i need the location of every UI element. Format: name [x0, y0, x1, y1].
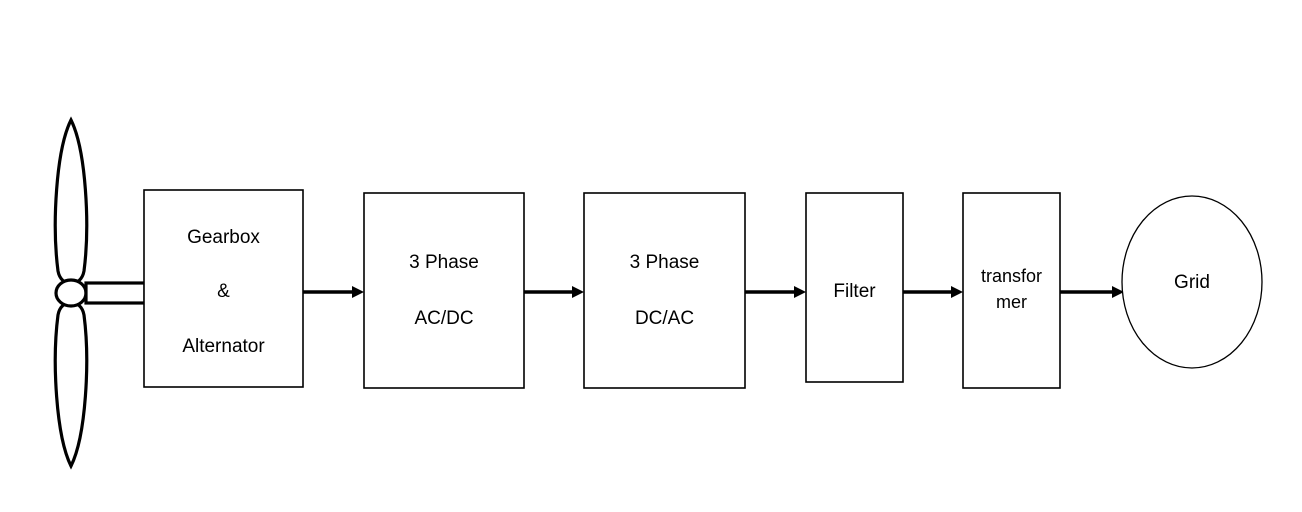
block-diagram: Gearbox & Alternator 3 Phase AC/DC 3 Pha… [0, 0, 1302, 512]
gearbox-alternator-label-line2: & [217, 281, 230, 302]
arrow-head-icon [951, 286, 963, 298]
node-ac-dc-converter[interactable]: 3 Phase AC/DC [364, 193, 524, 388]
dc-ac-inverter-box[interactable] [584, 193, 745, 388]
dc-ac-inverter-label-line1: 3 Phase [630, 252, 700, 273]
arrow-head-icon [794, 286, 806, 298]
turbine-hub-icon [56, 280, 86, 306]
ac-dc-converter-box[interactable] [364, 193, 524, 388]
turbine-shaft [86, 283, 145, 303]
ac-dc-converter-label-line2: AC/DC [414, 308, 473, 329]
connector-dcac-to-filter [745, 286, 806, 298]
node-filter[interactable]: Filter [806, 193, 903, 382]
node-grid[interactable]: Grid [1122, 196, 1262, 368]
arrow-head-icon [572, 286, 584, 298]
wind-turbine[interactable] [55, 120, 145, 466]
filter-label: Filter [833, 281, 876, 302]
node-gearbox-alternator[interactable]: Gearbox & Alternator [144, 190, 303, 387]
dc-ac-inverter-label-line2: DC/AC [635, 308, 694, 329]
connector-transformer-to-grid [1060, 286, 1124, 298]
connector-gearbox-to-acdc [303, 286, 364, 298]
diagram-canvas-root: Gearbox & Alternator 3 Phase AC/DC 3 Pha… [0, 0, 1302, 512]
ac-dc-converter-label-line1: 3 Phase [409, 252, 479, 273]
gearbox-alternator-label-line3: Alternator [182, 336, 265, 357]
node-transformer[interactable]: transfor mer [963, 193, 1060, 388]
transformer-box[interactable] [963, 193, 1060, 388]
node-dc-ac-inverter[interactable]: 3 Phase DC/AC [584, 193, 745, 388]
gearbox-alternator-label-line1: Gearbox [187, 227, 260, 248]
transformer-label-line1: transfor [981, 266, 1042, 286]
connector-acdc-to-dcac [524, 286, 584, 298]
grid-label: Grid [1174, 272, 1210, 293]
arrow-head-icon [352, 286, 364, 298]
connector-filter-to-transformer [903, 286, 963, 298]
transformer-label-line2: mer [996, 292, 1027, 312]
turbine-blade-lower-icon [55, 302, 86, 466]
turbine-blade-upper-icon [55, 120, 86, 284]
